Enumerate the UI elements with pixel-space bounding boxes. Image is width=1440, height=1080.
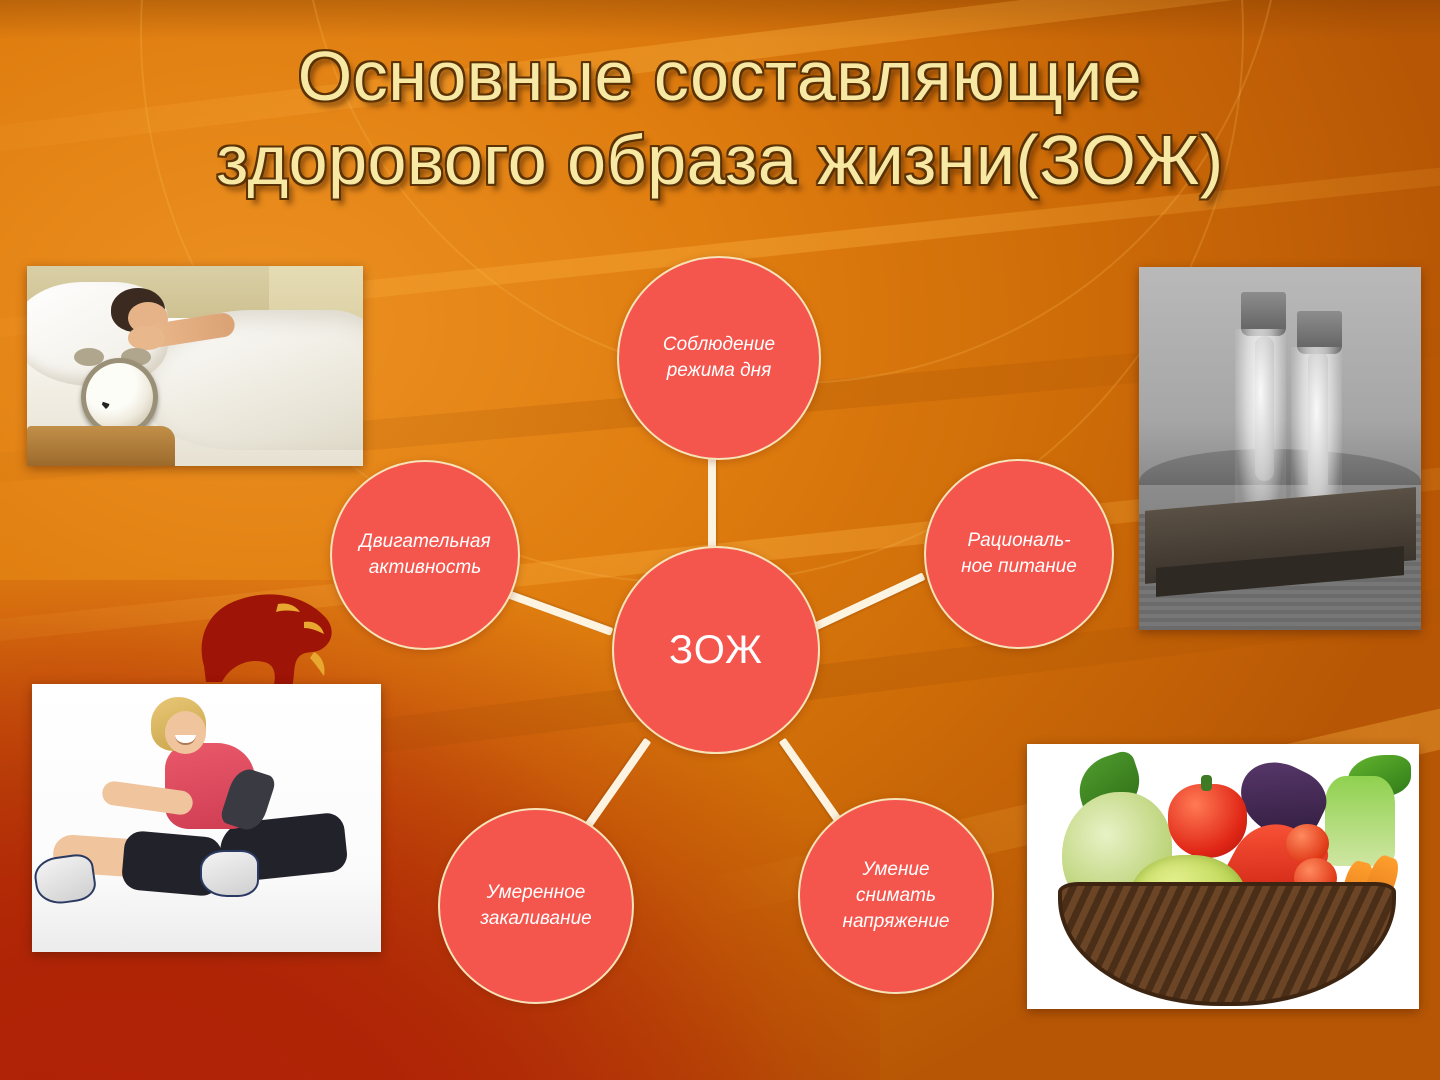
diagram-node-nutrition[interactable]: Рациональ- ное питание: [924, 459, 1114, 649]
diagram-center-label: ЗОЖ: [669, 628, 763, 672]
diagram-center-node[interactable]: ЗОЖ: [612, 546, 820, 754]
diagram-node-stress[interactable]: Умение снимать напряжение: [798, 798, 994, 994]
zozh-radial-diagram: ЗОЖ Соблюдение режима дня Рациональ- ное…: [0, 0, 1440, 1080]
diagram-node-stress-label: Умение снимать напряжение: [843, 857, 950, 935]
diagram-node-activity-label: Двигательная активность: [359, 529, 490, 581]
diagram-node-regime[interactable]: Соблюдение режима дня: [617, 256, 821, 460]
diagram-node-nutrition-label: Рациональ- ное питание: [961, 528, 1077, 580]
slide: Основные составляющие здорового образа ж…: [0, 0, 1440, 1080]
diagram-node-hardening-label: Умеренное закаливание: [480, 880, 591, 932]
diagram-node-hardening[interactable]: Умеренное закаливание: [438, 808, 634, 1004]
link-center-to-nutrition: [804, 572, 925, 634]
diagram-node-activity[interactable]: Двигательная активность: [330, 460, 520, 650]
diagram-node-regime-label: Соблюдение режима дня: [663, 332, 775, 384]
